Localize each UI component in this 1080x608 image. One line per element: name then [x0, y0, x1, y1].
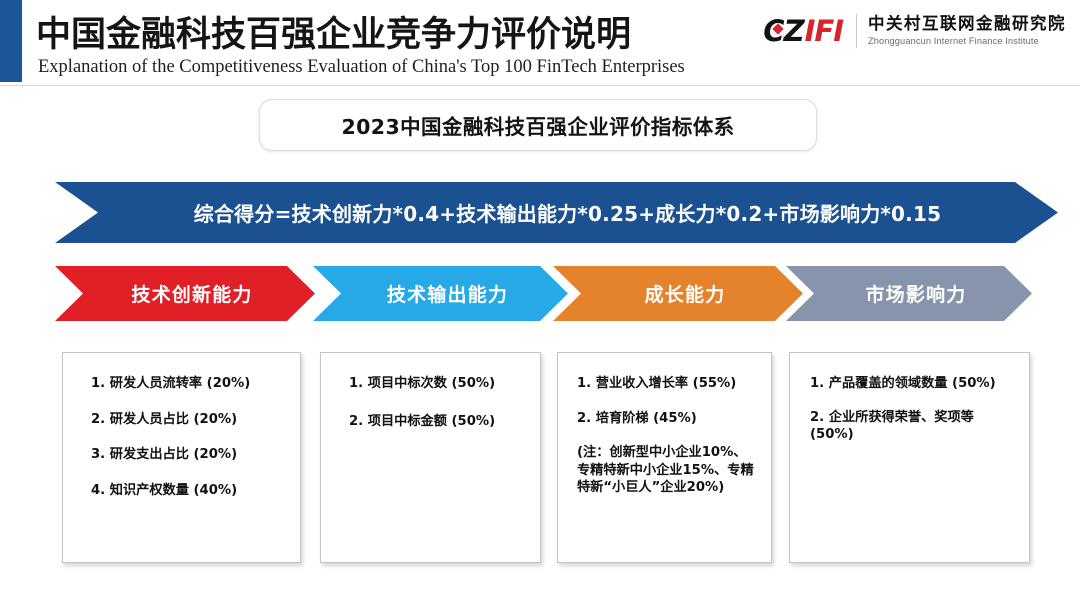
logo-text-block: 中关村互联网金融研究院 Zhongguancun Internet Financ…: [868, 15, 1066, 46]
indicator-note: (注：创新型中小企业10%、专精特新中小企业15%、专精特新“小巨人”企业20%…: [572, 444, 757, 497]
indicator-item: 2. 项目中标金额 (50%): [335, 413, 526, 431]
logo-mark-icon: CZ IFI: [763, 16, 843, 46]
framework-title-box: 2023中国金融科技百强企业评价指标体系: [259, 99, 817, 151]
header-accent-bar: [0, 0, 22, 82]
logo-mark-ifi-text: IFI: [805, 14, 843, 48]
indicator-item: 3. 研发支出占比 (20%): [77, 446, 286, 464]
indicator-item: 1. 项目中标次数 (50%): [335, 375, 526, 393]
indicator-item: 2. 培育阶梯 (45%): [572, 410, 757, 428]
dimension-label: 技术创新能力: [117, 280, 252, 307]
indicator-box-market-influence: 1. 产品覆盖的领域数量 (50%) 2. 企业所获得荣誉、奖项等 (50%): [789, 352, 1030, 563]
institute-logo: CZ IFI 中关村互联网金融研究院 Zhongguancun Internet…: [763, 10, 1066, 52]
dimension-label: 技术输出能力: [373, 280, 508, 307]
indicator-item: 2. 研发人员占比 (20%): [77, 411, 286, 429]
dimension-label: 市场影响力: [851, 280, 966, 307]
header-divider: [0, 85, 1080, 86]
logo-divider: [856, 14, 857, 48]
page-header: 中国金融科技百强企业竞争力评价说明 Explanation of the Com…: [0, 0, 1080, 86]
indicator-boxes-row: 1. 研发人员流转率 (20%) 2. 研发人员占比 (20%) 3. 研发支出…: [0, 352, 1080, 564]
indicator-box-technology-output: 1. 项目中标次数 (50%) 2. 项目中标金额 (50%): [320, 352, 541, 563]
framework-title-text: 2023中国金融科技百强企业评价指标体系: [341, 110, 734, 140]
dimension-chevron-growth: 成长能力: [553, 266, 803, 321]
page-title: 中国金融科技百强企业竞争力评价说明: [36, 6, 631, 57]
indicator-item: 4. 知识产权数量 (40%): [77, 482, 286, 500]
score-formula-text: 综合得分=技术创新力*0.4+技术输出能力*0.25+成长力*0.2+市场影响力…: [172, 198, 941, 227]
indicator-item: 1. 营业收入增长率 (55%): [572, 375, 757, 393]
dimension-chevron-row: 技术创新能力 技术输出能力 成长能力 市场影响力: [0, 266, 1080, 321]
dimension-chevron-market-influence: 市场影响力: [786, 266, 1032, 321]
indicator-item: 1. 产品覆盖的领域数量 (50%): [804, 375, 1015, 393]
logo-mark-cz-text: CZ: [763, 14, 803, 48]
indicator-box-technology-innovation: 1. 研发人员流转率 (20%) 2. 研发人员占比 (20%) 3. 研发支出…: [62, 352, 301, 563]
dimension-label: 成长能力: [631, 280, 726, 307]
logo-name-chinese: 中关村互联网金融研究院: [868, 15, 1066, 34]
score-formula-banner: 综合得分=技术创新力*0.4+技术输出能力*0.25+成长力*0.2+市场影响力…: [55, 182, 1058, 243]
indicator-item: 1. 研发人员流转率 (20%): [77, 375, 286, 393]
indicator-box-growth: 1. 营业收入增长率 (55%) 2. 培育阶梯 (45%) (注：创新型中小企…: [557, 352, 772, 563]
indicator-item: 2. 企业所获得荣誉、奖项等 (50%): [804, 409, 1015, 444]
logo-name-english: Zhongguancun Internet Finance Institute: [868, 36, 1066, 46]
dimension-chevron-technology-output: 技术输出能力: [313, 266, 568, 321]
page-subtitle: Explanation of the Competitiveness Evalu…: [38, 57, 685, 78]
dimension-chevron-technology-innovation: 技术创新能力: [55, 266, 315, 321]
